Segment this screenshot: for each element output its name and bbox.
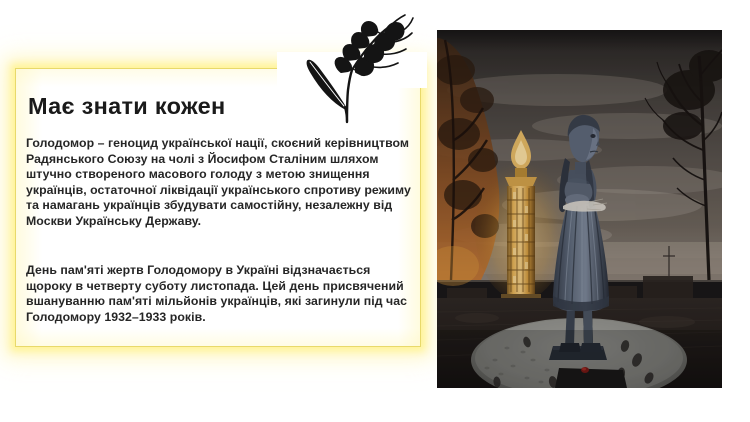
page-title: Має знати кожен	[28, 93, 225, 120]
paragraph-remembrance-day: День пам'яті жертв Голодомору в Україні …	[26, 263, 418, 325]
slide-canvas: Має знати кожен Голодомор – геноцид укра…	[0, 0, 750, 422]
holodomor-memorial-photo	[437, 30, 722, 388]
paragraph-definition: Голодомор – геноцид української нації, с…	[26, 136, 418, 230]
wheat-ear-icon	[289, 10, 419, 128]
